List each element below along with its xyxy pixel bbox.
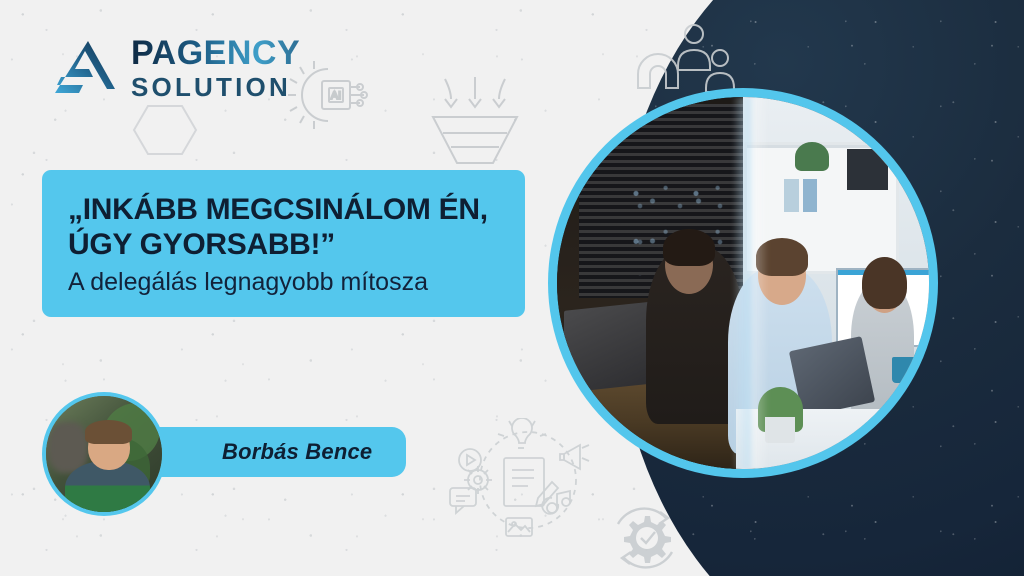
storage-box xyxy=(847,149,888,190)
shelf-plant xyxy=(795,142,828,172)
marketing-funnel-icon xyxy=(425,73,525,168)
brand-logo[interactable]: PAGENCY SOLUTION xyxy=(55,36,300,100)
avatar-hair xyxy=(85,420,131,443)
page-subtitle: A delegálás legnagyobb mítosza xyxy=(68,267,499,297)
triangle-a-logo-icon xyxy=(55,39,117,97)
split-light-seam xyxy=(732,97,769,469)
avatar xyxy=(46,396,162,512)
magnet-customers-icon xyxy=(632,18,742,98)
binder-one xyxy=(803,179,818,212)
coffee-mug xyxy=(892,357,918,383)
headline-banner: „INKÁBB MEGCSINÁLOM ÉN, ÚGY GYORSABB!” A… xyxy=(42,170,525,317)
binder-two xyxy=(784,179,799,212)
gear-checkmark-automation-icon xyxy=(602,502,688,574)
avatar-ring xyxy=(42,392,166,516)
hexagon-outline-icon xyxy=(130,100,200,160)
author-name: Borbás Bence xyxy=(222,439,372,465)
brand-name-primary: PAGENCY xyxy=(131,36,300,70)
hero-image xyxy=(557,97,929,469)
hero-image-ring xyxy=(548,88,938,478)
brand-wordmark: PAGENCY SOLUTION xyxy=(131,36,300,100)
page-title: „INKÁBB MEGCSINÁLOM ÉN, ÚGY GYORSABB!” xyxy=(68,192,499,263)
social-media-banner: AI xyxy=(0,0,1024,576)
colleague-hair xyxy=(862,257,907,309)
stressed-person-hair xyxy=(663,229,715,266)
brand-name-secondary: SOLUTION xyxy=(131,74,300,100)
author-badge: Borbás Bence xyxy=(138,427,406,477)
plant-pot xyxy=(765,417,795,443)
ai-label: AI xyxy=(331,90,341,102)
